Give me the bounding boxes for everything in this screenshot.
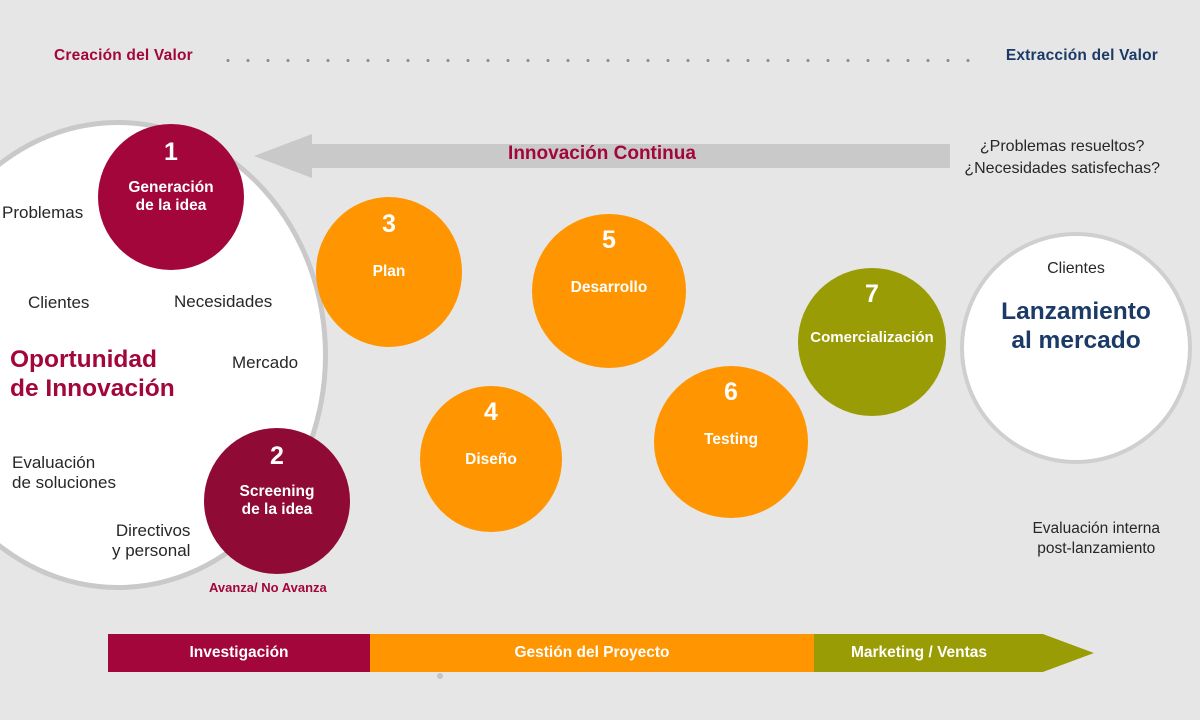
launch-keyword-clientes: Clientes: [1047, 260, 1105, 278]
phase-segment-investigacion-shape: [108, 634, 370, 672]
node-1-label-line1: Generación: [128, 179, 213, 197]
continuous-innovation-arrow-icon: [254, 134, 950, 178]
node-7-label: Comercialización: [810, 329, 933, 346]
innovation-opportunity-title: Oportunidad de Innovación: [10, 345, 175, 404]
node-6-number: 6: [724, 380, 738, 405]
decorative-dot: [437, 673, 443, 679]
node-6-label: Testing: [704, 431, 758, 449]
innovation-opportunity-title-line2: de Innovación: [10, 374, 175, 403]
keyword-evaluacion-line1: Evaluación: [12, 453, 116, 473]
header-dotted-connector: [218, 58, 978, 63]
keyword-directivos-y-personal: Directivos y personal: [112, 521, 190, 560]
phase-segment-marketing-shape: [814, 634, 1094, 672]
keyword-mercado: Mercado: [232, 353, 298, 373]
node-testing[interactable]: 6 Testing: [654, 366, 808, 518]
keyword-problemas: Problemas: [2, 203, 83, 223]
node-2-label-line2: de la idea: [240, 501, 315, 519]
post-launch-evaluation-line2: post-lanzamiento: [1032, 539, 1160, 559]
value-extraction-label: Extracción del Valor: [1006, 47, 1158, 65]
node-4-label: Diseño: [465, 451, 517, 469]
node-diseno[interactable]: 4 Diseño: [420, 386, 562, 532]
node-1-label-line2: de la idea: [128, 197, 213, 215]
keyword-clientes: Clientes: [28, 293, 89, 313]
phase-bar: [108, 634, 1110, 672]
node-2-number: 2: [270, 444, 284, 469]
node-screening-de-la-idea[interactable]: 2 Screening de la idea: [204, 428, 350, 574]
keyword-necesidades: Necesidades: [174, 292, 272, 312]
keyword-directivos-line2: y personal: [112, 541, 190, 561]
post-launch-evaluation-label: Evaluación interna post-lanzamiento: [1032, 519, 1160, 559]
node-generacion-de-la-idea[interactable]: 1 Generación de la idea: [98, 124, 244, 270]
node-1-number: 1: [164, 140, 178, 165]
diagram-canvas: Creación del Valor Extracción del Valor …: [0, 0, 1200, 720]
node-comercializacion[interactable]: 7 Comercialización: [798, 268, 946, 416]
gate-note-avanza-no-avanza: Avanza/ No Avanza: [209, 580, 327, 595]
node-7-number: 7: [865, 282, 879, 307]
post-launch-evaluation-line1: Evaluación interna: [1032, 519, 1160, 539]
node-2-label-line1: Screening: [240, 483, 315, 501]
outcome-question-1: ¿Problemas resueltos?: [964, 136, 1160, 158]
node-5-label: Desarrollo: [571, 279, 648, 297]
outcome-questions: ¿Problemas resueltos? ¿Necesidades satis…: [964, 136, 1160, 179]
keyword-evaluacion-line2: de soluciones: [12, 473, 116, 493]
node-plan[interactable]: 3 Plan: [316, 197, 462, 347]
node-5-number: 5: [602, 228, 616, 253]
innovation-opportunity-title-line1: Oportunidad: [10, 345, 175, 374]
phase-segment-gestion-shape: [370, 634, 814, 672]
keyword-directivos-line1: Directivos: [112, 521, 190, 541]
value-creation-label: Creación del Valor: [54, 47, 193, 65]
node-3-label: Plan: [373, 263, 406, 281]
market-launch-title-line2: al mercado: [1001, 327, 1151, 356]
node-3-number: 3: [382, 212, 396, 237]
node-1-label: Generación de la idea: [128, 179, 213, 215]
node-4-number: 4: [484, 400, 498, 425]
market-launch-title-line1: Lanzamiento: [1001, 298, 1151, 327]
market-launch-circle: Clientes Lanzamiento al mercado: [960, 232, 1192, 464]
outcome-question-2: ¿Necesidades satisfechas?: [964, 158, 1160, 180]
market-launch-title: Lanzamiento al mercado: [1001, 298, 1151, 356]
node-desarrollo[interactable]: 5 Desarrollo: [532, 214, 686, 368]
node-2-label: Screening de la idea: [240, 483, 315, 519]
keyword-evaluacion-de-soluciones: Evaluación de soluciones: [12, 453, 116, 492]
